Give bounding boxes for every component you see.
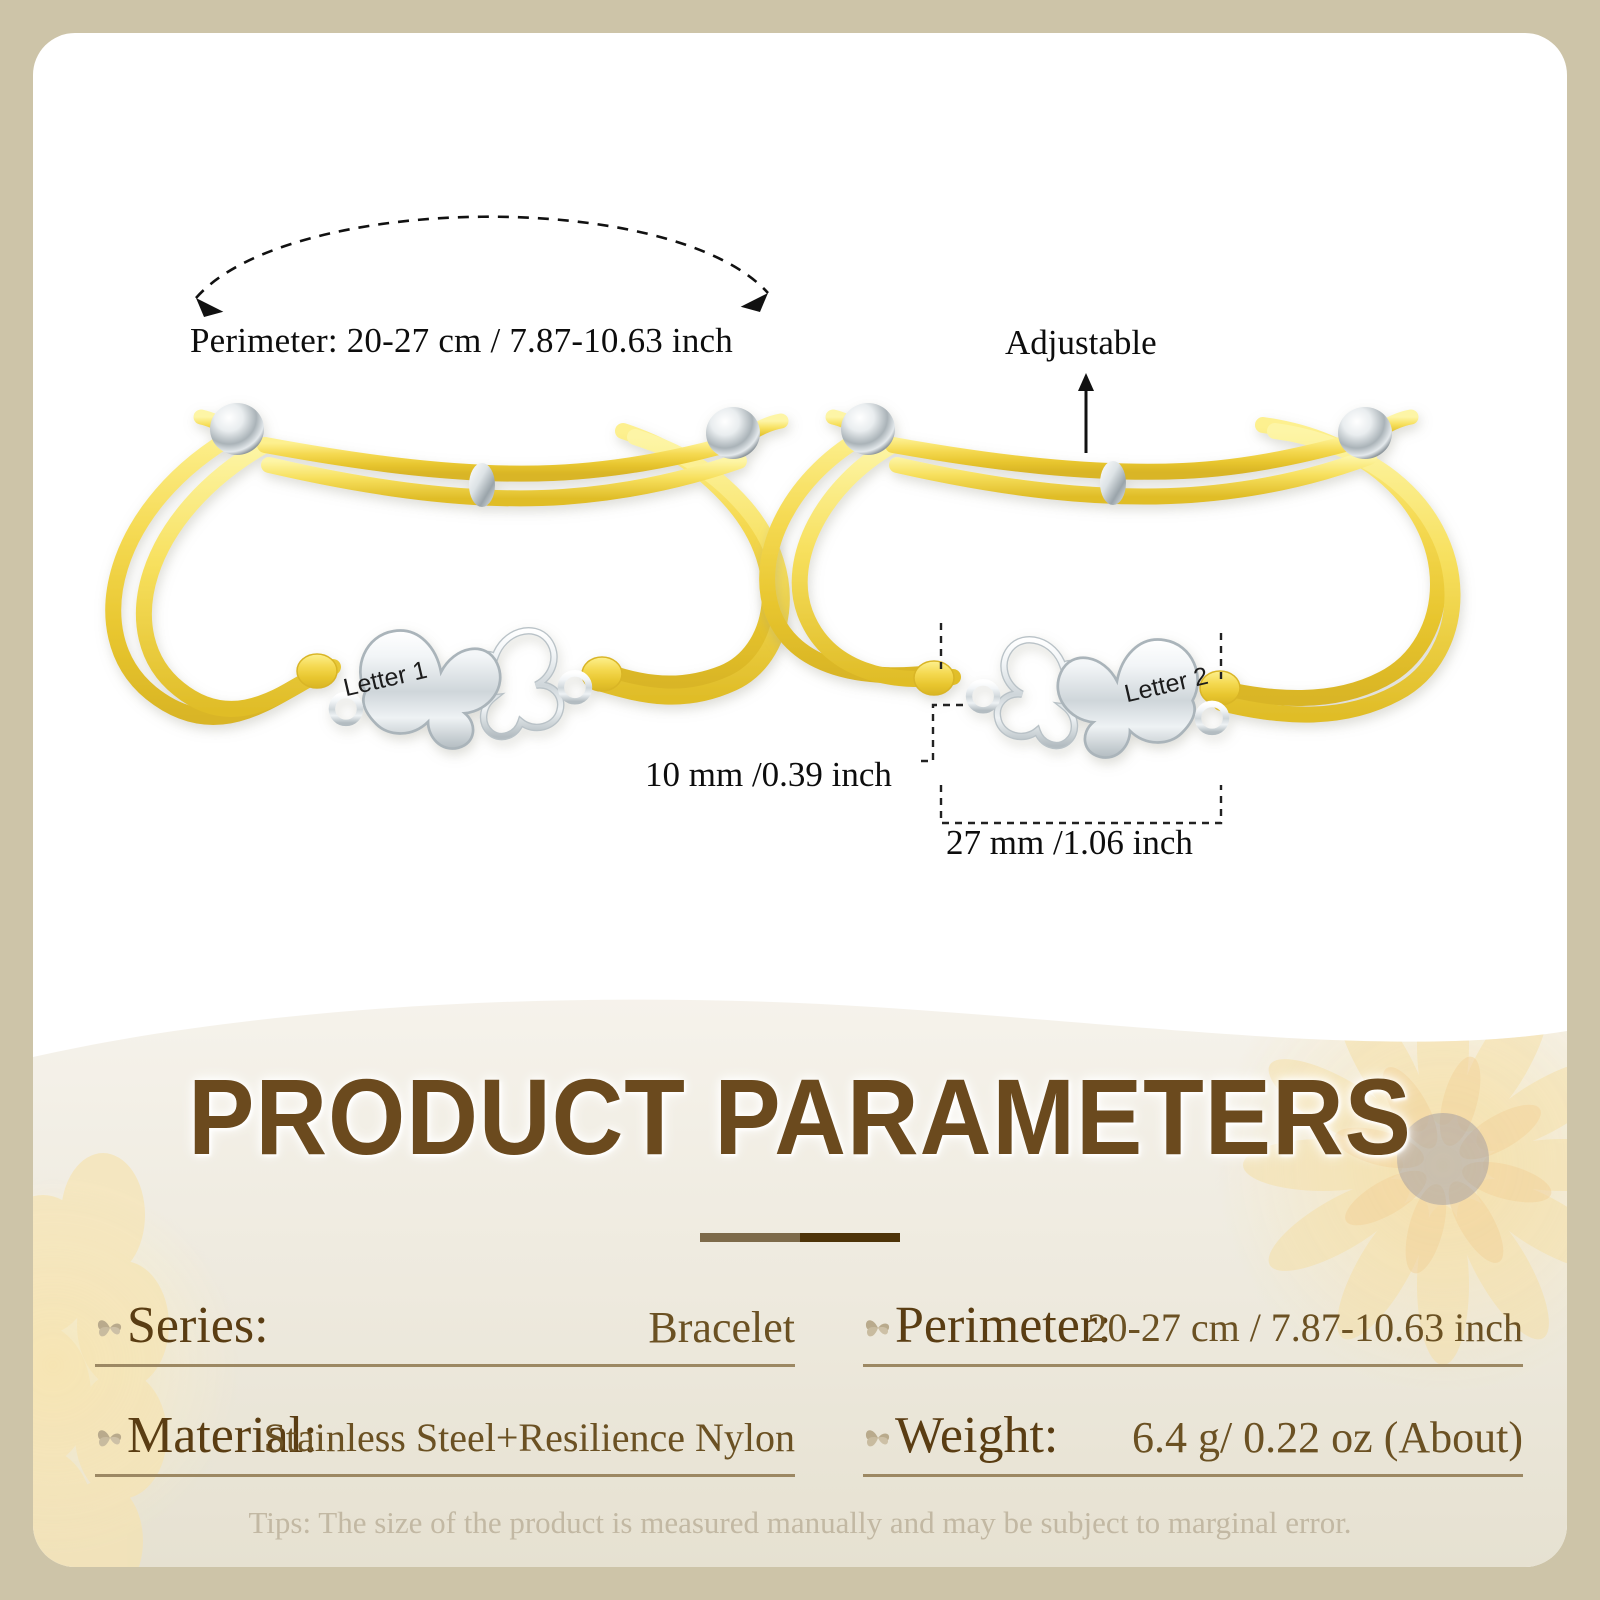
parameter-value: 20-27 cm / 7.87-10.63 inch — [1088, 1291, 1524, 1365]
end-bead — [841, 403, 895, 455]
bracelet-left — [113, 403, 782, 749]
parameter-value: 6.4 g/ 0.22 oz (About) — [1132, 1401, 1523, 1475]
perimeter-arc-arrow — [190, 217, 774, 325]
parameter-row-material: Material: Stainless Steel+Resilience Nyl… — [95, 1401, 795, 1475]
end-bead — [210, 403, 264, 455]
width-annotation: 27 mm /1.06 inch — [946, 823, 1193, 863]
end-bead — [706, 407, 760, 459]
parameter-label: Perimeter: — [895, 1291, 1112, 1361]
product-card: Perimeter: 20-27 cm / 7.87-10.63 inch Ad… — [33, 33, 1567, 1567]
tips-note: Tips: The size of the product is measure… — [33, 1505, 1567, 1541]
parameter-row-weight: Weight: 6.4 g/ 0.22 oz (About) — [863, 1401, 1523, 1475]
product-image-area: Perimeter: 20-27 cm / 7.87-10.63 inch Ad… — [33, 33, 1567, 1033]
butterfly-bullet-icon — [95, 1423, 125, 1453]
bracelet-right — [767, 403, 1452, 758]
end-bead — [1338, 407, 1392, 459]
perimeter-annotation: Perimeter: 20-27 cm / 7.87-10.63 inch — [190, 321, 733, 361]
bracelet-illustration — [33, 33, 1567, 1033]
parameter-rows: Series: Bracelet Perimeter: 20-27 cm / 7… — [33, 985, 1567, 1567]
slider-ring — [1100, 461, 1126, 505]
row-underline — [95, 1474, 795, 1477]
adjustable-annotation: Adjustable — [1005, 323, 1157, 363]
slider-ring — [469, 463, 495, 507]
adjustable-arrow — [1078, 373, 1094, 453]
row-underline — [95, 1364, 795, 1367]
row-underline — [863, 1364, 1523, 1367]
parameter-row-perimeter: Perimeter: 20-27 cm / 7.87-10.63 inch — [863, 1291, 1523, 1365]
depth-dimension-leader — [921, 705, 963, 761]
butterfly-pendant-right — [969, 640, 1226, 758]
parameter-row-series: Series: Bracelet — [95, 1291, 795, 1365]
infographic-root: Perimeter: 20-27 cm / 7.87-10.63 inch Ad… — [0, 0, 1600, 1600]
parameter-value: Bracelet — [648, 1291, 795, 1365]
row-underline — [863, 1474, 1523, 1477]
butterfly-bullet-icon — [863, 1423, 893, 1453]
parameter-label: Weight: — [895, 1401, 1058, 1471]
parameter-value: Stainless Steel+Resilience Nylon — [264, 1401, 795, 1475]
product-parameters-panel: PRODUCT PARAMETERS Series: Bracelet — [33, 985, 1567, 1567]
butterfly-bullet-icon — [863, 1313, 893, 1343]
parameter-label: Series: — [127, 1291, 269, 1361]
depth-annotation: 10 mm /0.39 inch — [645, 755, 892, 795]
butterfly-bullet-icon — [95, 1313, 125, 1343]
